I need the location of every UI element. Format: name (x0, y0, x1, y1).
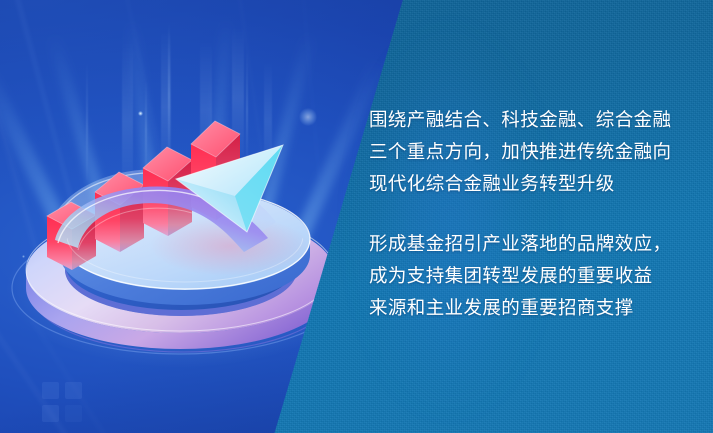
paragraph-2-line-2: 成为支持集团转型发展的重要收益 (369, 260, 679, 292)
slide-canvas: 围绕产融结合、科技金融、综合金融 三个重点方向，加快推进传统金融向 现代化综合金… (0, 0, 713, 433)
text-content: 围绕产融结合、科技金融、综合金融 三个重点方向，加快推进传统金融向 现代化综合金… (369, 104, 679, 324)
paragraph-1-line-1: 围绕产融结合、科技金融、综合金融 (369, 104, 679, 136)
paragraph-1-line-2: 三个重点方向，加快推进传统金融向 (369, 136, 679, 168)
paragraph-2-line-1: 形成基金招引产业落地的品牌效应， (369, 228, 679, 260)
paragraph-1: 围绕产融结合、科技金融、综合金融 三个重点方向，加快推进传统金融向 现代化综合金… (369, 104, 679, 200)
paragraph-2-line-3: 来源和主业发展的重要招商支撑 (369, 292, 679, 324)
paragraph-2: 形成基金招引产业落地的品牌效应， 成为支持集团转型发展的重要收益 来源和主业发展… (369, 228, 679, 324)
paragraph-1-line-3: 现代化综合金融业务转型升级 (369, 168, 679, 200)
